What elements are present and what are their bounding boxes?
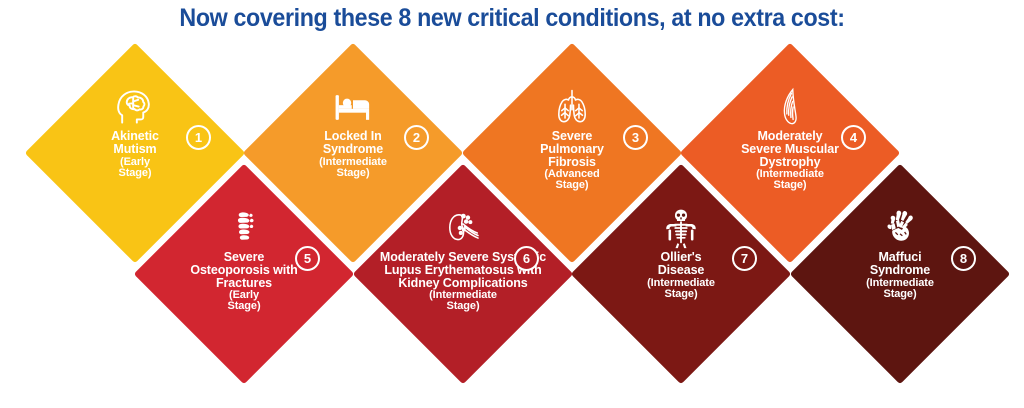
infographic-canvas: Now covering these 8 new critical condit… (0, 0, 1024, 408)
badge-number-2[interactable]: 2 (404, 125, 429, 150)
condition-diamond-6[interactable]: Moderately Severe Systemic Lupus Erythem… (385, 196, 541, 352)
diamond-background-5 (134, 164, 355, 385)
diamond-background-6 (353, 164, 574, 385)
badge-number-4[interactable]: 4 (841, 125, 866, 150)
diamond-background-7 (571, 164, 792, 385)
diamond-background-8 (790, 164, 1011, 385)
badge-number-1[interactable]: 1 (186, 125, 211, 150)
page-title: Now covering these 8 new critical condit… (36, 4, 988, 33)
badge-number-6[interactable]: 6 (514, 246, 539, 271)
badge-number-8[interactable]: 8 (951, 246, 976, 271)
badge-number-7[interactable]: 7 (732, 246, 757, 271)
condition-diamond-5[interactable]: Severe Osteoporosis with Fractures (Earl… (166, 196, 322, 352)
condition-diamond-7[interactable]: Ollier's Disease (Intermediate Stage) 7 (603, 196, 759, 352)
condition-diamond-8[interactable]: Maffuci Syndrome (Intermediate Stage) 8 (822, 196, 978, 352)
badge-number-5[interactable]: 5 (295, 246, 320, 271)
badge-number-3[interactable]: 3 (623, 125, 648, 150)
